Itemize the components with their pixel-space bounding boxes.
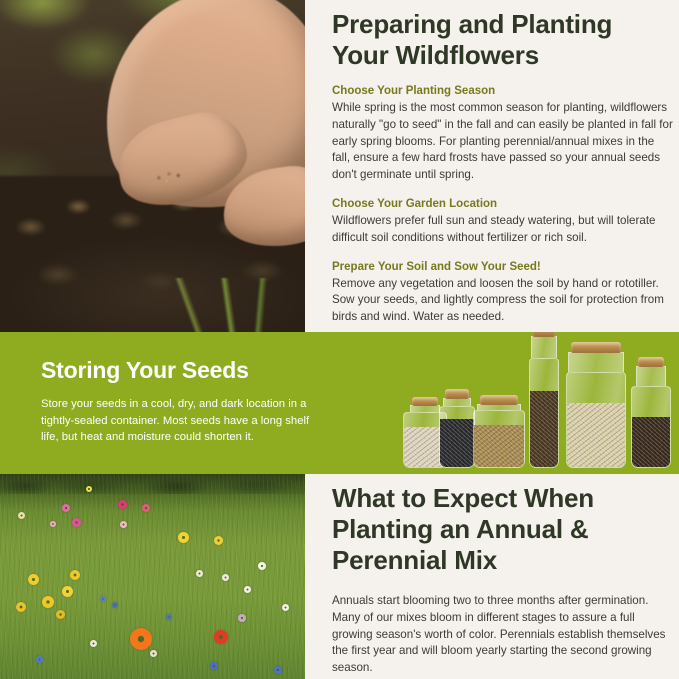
jar-black-seeds (439, 388, 475, 468)
meadow-flower (214, 536, 223, 545)
meadow-flower (244, 586, 251, 593)
jar-contents (440, 419, 474, 467)
jar-glass (631, 386, 671, 468)
section-storing-your-seeds: Storing Your Seeds Store your seeds in a… (0, 332, 679, 474)
meadow-flower (150, 650, 157, 657)
meadow-flower (16, 602, 26, 612)
meadow-flower (86, 486, 92, 492)
meadow-flower (90, 640, 97, 647)
infographic-page: Preparing and Planting Your Wildflowers … (0, 0, 679, 679)
meadow-flower (112, 602, 118, 608)
meadow-flower (18, 512, 25, 519)
bottom-text-column: What to Expect When Planting an Annual &… (332, 474, 679, 679)
meadow-flower (50, 521, 56, 527)
meadow-grass-texture (0, 474, 305, 679)
meadow-flower (120, 521, 127, 528)
what-to-expect-paragraph: Annuals start blooming two to three mont… (332, 593, 673, 677)
grass-blades (150, 278, 305, 332)
meadow-flower (100, 596, 106, 602)
jar-sunflower-seeds (631, 356, 671, 468)
meadow-flower (118, 500, 127, 509)
subheading-garden-location: Choose Your Garden Location (332, 197, 673, 212)
jar-neck (531, 336, 557, 358)
what-to-expect-title: What to Expect When Planting an Annual &… (332, 483, 673, 576)
meadow-flower (62, 504, 70, 512)
meadow-flower (62, 586, 73, 597)
page-title: Preparing and Planting Your Wildflowers (332, 9, 673, 71)
meadow-flower (214, 630, 228, 644)
paragraph-planting-season: While spring is the most common season f… (332, 100, 673, 184)
meadow-flower (166, 614, 172, 620)
jar-contents (567, 403, 625, 467)
jar-cork-lid (533, 332, 556, 337)
meadow-flower (178, 532, 189, 543)
meadow-flower (42, 596, 54, 608)
meadow-flower (130, 628, 152, 650)
meadow-flower (210, 662, 218, 670)
jar-pumpkin-seeds (566, 341, 626, 468)
paragraph-garden-location: Wildflowers prefer full sun and steady w… (332, 213, 673, 247)
storing-seeds-paragraph: Store your seeds in a cool, dry, and dar… (41, 396, 329, 446)
meadow-flower (28, 574, 39, 585)
jar-cork-lid (571, 342, 621, 353)
meadow-flower (258, 562, 266, 570)
photo-wildflower-meadow (0, 474, 305, 679)
jar-cork-lid (480, 395, 518, 405)
paragraph-prepare-soil: Remove any vegetation and loosen the soi… (332, 276, 673, 326)
jar-glass (473, 410, 525, 468)
storing-seeds-title: Storing Your Seeds (41, 357, 249, 383)
photo-seed-jars (403, 346, 671, 474)
top-text-column: Preparing and Planting Your Wildflowers … (332, 0, 679, 332)
meadow-flower (70, 570, 80, 580)
meadow-flower (274, 666, 282, 674)
jar-glass (439, 406, 475, 468)
meadow-flower (196, 570, 203, 577)
meadow-flower (238, 614, 246, 622)
meadow-flower (56, 610, 65, 619)
jar-contents (530, 391, 558, 467)
meadow-flower (72, 518, 81, 527)
jar-cork-lid (412, 397, 438, 406)
subheading-planting-season: Choose Your Planting Season (332, 84, 673, 99)
meadow-flower (282, 604, 289, 611)
section-preparing-and-planting: Preparing and Planting Your Wildflowers … (0, 0, 679, 332)
meadow-flower (36, 656, 43, 663)
jar-glass (529, 358, 559, 468)
meadow-flower (222, 574, 229, 581)
photo-hands-planting-seeds (0, 0, 305, 332)
jar-neck (636, 366, 666, 386)
jar-glass (566, 372, 626, 468)
jar-dark-round-seeds (529, 332, 559, 468)
jar-cork-lid (638, 357, 664, 367)
jar-neck (568, 352, 624, 372)
jar-neck (443, 398, 471, 406)
jar-neck (410, 405, 440, 412)
jar-contents (474, 425, 524, 467)
jar-contents (632, 417, 670, 467)
jar-cork-lid (445, 389, 469, 399)
meadow-flower (142, 504, 150, 512)
subheading-prepare-soil: Prepare Your Soil and Sow Your Seed! (332, 260, 673, 275)
section-what-to-expect: What to Expect When Planting an Annual &… (0, 474, 679, 679)
jar-brown-grain (473, 394, 525, 468)
